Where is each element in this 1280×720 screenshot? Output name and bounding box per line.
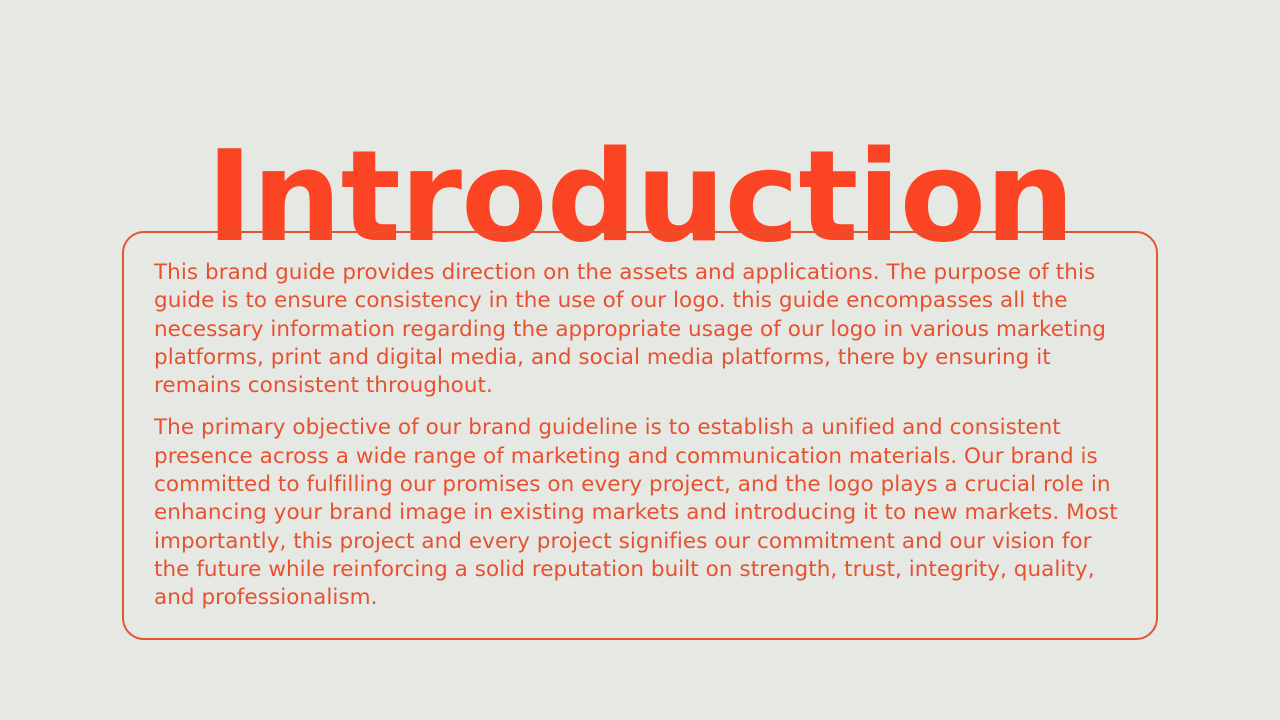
intro-paragraph-1: This brand guide provides direction on t… — [154, 259, 1126, 400]
intro-paragraph-2: The primary objective of our brand guide… — [154, 414, 1126, 612]
slide-root: Introduction This brand guide provides d… — [0, 0, 1280, 720]
introduction-text-card: This brand guide provides direction on t… — [122, 231, 1158, 640]
